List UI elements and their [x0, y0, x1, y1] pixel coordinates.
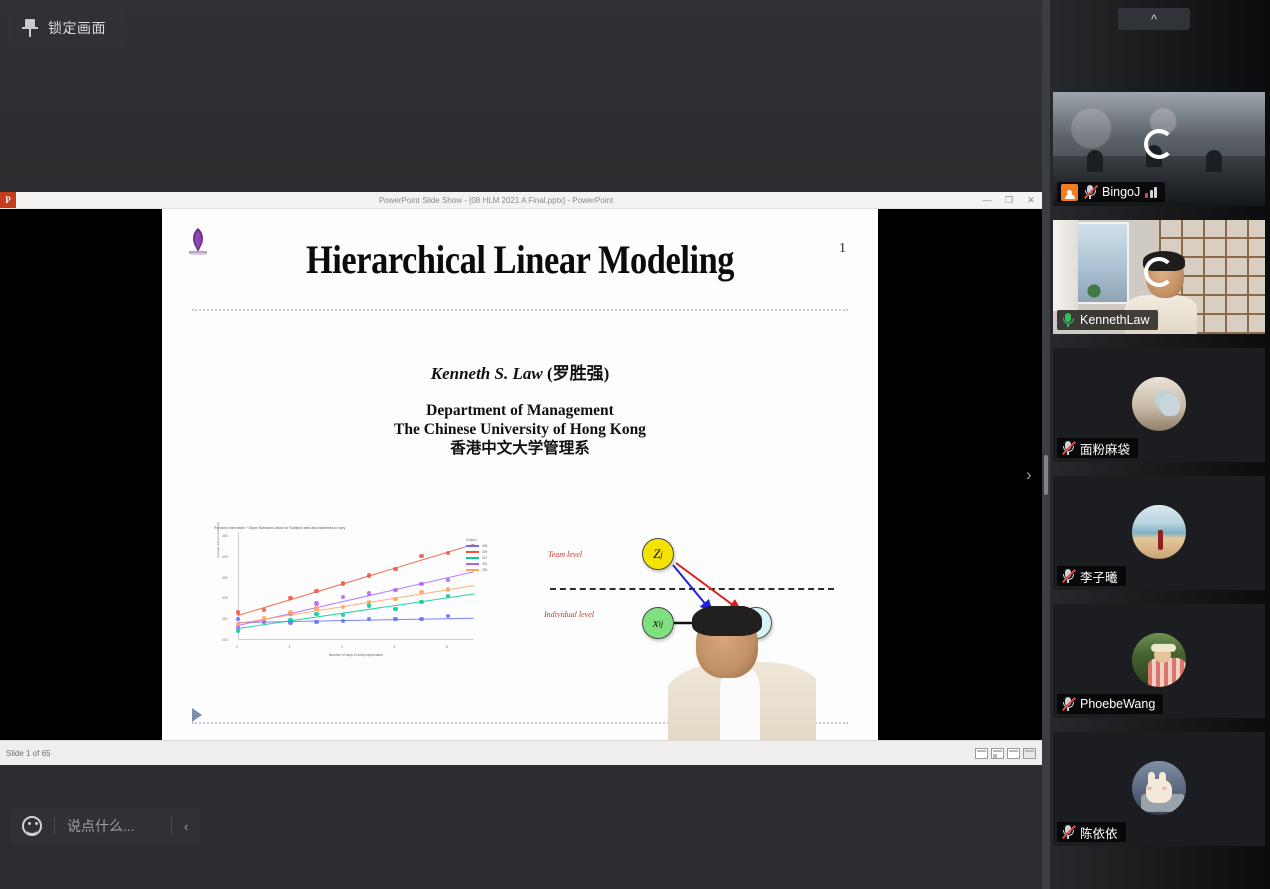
chart-data-point: [288, 618, 292, 622]
maximize-icon[interactable]: ❐: [998, 192, 1020, 208]
participant-tile[interactable]: BingoJ: [1053, 92, 1265, 206]
chart-data-point: [393, 588, 397, 592]
chart-data-point: [446, 551, 450, 555]
chart-data-point: [393, 567, 397, 571]
chart-data-point: [419, 600, 423, 604]
node-z-label: Z: [653, 546, 660, 562]
participant-namebar: PhoebeWang: [1057, 694, 1163, 714]
node-x-sub: ij: [659, 619, 663, 628]
chart-data-point: [236, 610, 240, 614]
participant-name: 李子曦: [1080, 567, 1118, 586]
powerpoint-logo-icon: P: [0, 192, 16, 208]
chart-title: Random Intercepts + Slope Randoms allow …: [214, 526, 509, 530]
chart-y-tick: 400: [222, 555, 228, 559]
shared-screen-stage: 锁定画面 P PowerPoint Slide Show - [08 HLM 2…: [0, 0, 1042, 889]
powerpoint-window: P PowerPoint Slide Show - [08 HLM 2021 A…: [0, 192, 1042, 765]
participant-namebar: BingoJ: [1057, 182, 1165, 202]
slide-counter: Slide 1 of 65: [6, 749, 50, 758]
chart-legend-item: 310: [466, 556, 487, 560]
reading-view-icon[interactable]: [1007, 748, 1020, 759]
slide-author: Kenneth S. Law (罗胜强): [162, 359, 878, 384]
chart-plot-area: Average reaction time (ms) Number of day…: [238, 532, 474, 640]
chart-x-tick: 4: [341, 645, 343, 649]
chat-divider-1: [54, 817, 55, 835]
node-z: Zj: [642, 538, 674, 570]
participant-panel: ^ BingoJKennethLaw面粉麻袋李子曦PhoebeWang陈依依: [1050, 0, 1270, 889]
chart-x-axis-label: Number of days of sleep deprivation: [238, 653, 474, 657]
mic-muted-icon[interactable]: [1061, 696, 1075, 712]
chart-data-point: [446, 587, 450, 591]
play-triangle-icon[interactable]: [192, 708, 202, 722]
slide-sorter-icon[interactable]: [991, 748, 1004, 759]
chart-data-point: [419, 617, 423, 621]
panel-resize-handle[interactable]: [1042, 0, 1050, 889]
avatar: [1132, 633, 1186, 687]
chevron-left-icon[interactable]: ‹: [184, 819, 188, 834]
slide-title: Hierarchical Linear Modeling: [212, 236, 828, 283]
screen-share-meeting-window: 锁定画面 P PowerPoint Slide Show - [08 HLM 2…: [0, 0, 1270, 889]
chart-x-tick: 2: [288, 645, 290, 649]
chart-data-point: [367, 591, 371, 595]
resize-grip[interactable]: [1044, 455, 1048, 495]
loading-spinner-icon: [1144, 129, 1174, 159]
participant-tile-list: BingoJKennethLaw面粉麻袋李子曦PhoebeWang陈依依: [1053, 92, 1267, 860]
view-mode-buttons: [975, 748, 1036, 759]
diagram-arrows: [544, 532, 834, 660]
chart-data-point: [262, 616, 266, 620]
signal-strength-icon: [1145, 186, 1157, 198]
participant-namebar: 李子曦: [1057, 566, 1126, 586]
chart-data-point: [341, 619, 345, 623]
chart-data-point: [446, 594, 450, 598]
chart-data-point: [314, 601, 318, 605]
slide-author-name-cn: (罗胜强): [547, 364, 609, 383]
chart-data-point: [419, 590, 423, 594]
participant-name: 陈依依: [1080, 823, 1118, 842]
mic-muted-icon[interactable]: [1061, 568, 1075, 584]
powerpoint-slide-area[interactable]: 1 Hierarchical Linear Modeling Kenneth S…: [0, 209, 1042, 740]
chart-data-point: [288, 610, 292, 614]
participant-tile[interactable]: 陈依依: [1053, 732, 1265, 846]
affiliation-line-1: Department of Management: [162, 401, 878, 420]
participant-tile[interactable]: PhoebeWang: [1053, 604, 1265, 718]
stage-top-backdrop: [0, 0, 1042, 192]
avatar: [1132, 505, 1186, 559]
slide-divider-top: [192, 309, 848, 311]
minimize-icon[interactable]: —: [976, 192, 998, 208]
chat-input[interactable]: [67, 818, 159, 834]
chart-data-point: [341, 605, 345, 609]
slide-scatter-chart: Random Intercepts + Slope Randoms allow …: [214, 526, 509, 663]
window-controls: — ❐ ✕: [976, 192, 1042, 208]
slide-affiliation: Department of Management The Chinese Uni…: [162, 401, 878, 458]
participant-namebar: 陈依依: [1057, 822, 1126, 842]
chart-legend-title: Subject: [466, 538, 487, 542]
participant-name: PhoebeWang: [1080, 697, 1155, 711]
pin-icon: [22, 19, 38, 37]
slide-path-diagram: Team level Individual level: [544, 532, 834, 660]
participant-tile[interactable]: 面粉麻袋: [1053, 348, 1265, 462]
powerpoint-title: PowerPoint Slide Show - [08 HLM 2021 A F…: [16, 196, 976, 205]
participant-name: KennethLaw: [1080, 313, 1150, 327]
slide-canvas[interactable]: 1 Hierarchical Linear Modeling Kenneth S…: [162, 209, 878, 740]
chart-data-point: [393, 607, 397, 611]
chart-data-point: [314, 589, 318, 593]
loading-spinner-icon: [1144, 257, 1174, 287]
chart-legend-item: 332: [466, 562, 487, 566]
chart-data-point: [419, 554, 423, 558]
participant-name: 面粉麻袋: [1080, 439, 1130, 458]
mic-muted-icon[interactable]: [1061, 440, 1075, 456]
chart-legend: Subject 308309310332333: [466, 538, 487, 574]
avatar: [1132, 761, 1186, 815]
chart-y-tick: 300: [222, 596, 228, 600]
slide-divider-bottom: [192, 722, 848, 724]
powerpoint-statusbar: Slide 1 of 65: [0, 740, 1042, 765]
chart-legend-item: 308: [466, 544, 487, 548]
node-x: xij: [642, 607, 674, 639]
chevron-right-icon[interactable]: ›: [1026, 466, 1042, 484]
chat-input-bar[interactable]: ‹: [10, 808, 200, 844]
mic-muted-icon[interactable]: [1061, 824, 1075, 840]
chart-x-tick: 8: [446, 645, 448, 649]
chart-data-point: [341, 581, 345, 585]
chart-data-point: [314, 606, 318, 610]
chart-data-point: [393, 617, 397, 621]
cuhk-crest-icon: [184, 226, 212, 256]
slide-show-icon[interactable]: [1023, 748, 1036, 759]
lock-screen-label: 锁定画面: [48, 18, 106, 38]
chart-data-point: [236, 628, 240, 632]
host-icon: [1061, 184, 1078, 201]
normal-view-icon[interactable]: [975, 748, 988, 759]
participant-namebar: 面粉麻袋: [1057, 438, 1138, 458]
chart-data-point: [367, 573, 371, 577]
chart-data-point: [393, 597, 397, 601]
smiley-icon[interactable]: [22, 816, 42, 836]
participant-name: BingoJ: [1102, 185, 1140, 199]
chart-legend-item: 309: [466, 550, 487, 554]
node-z-sub: j: [661, 550, 663, 559]
chart-x-tick: 6: [393, 645, 395, 649]
chart-y-tick: 350: [222, 576, 228, 580]
mic-on-icon[interactable]: [1061, 312, 1075, 328]
chart-data-point: [446, 614, 450, 618]
avatar: [1132, 377, 1186, 431]
affiliation-line-3: 香港中文大学管理系: [162, 439, 878, 458]
chart-x-tick: 0: [236, 645, 238, 649]
close-icon[interactable]: ✕: [1020, 192, 1042, 208]
scroll-up-button[interactable]: ^: [1118, 8, 1190, 30]
chart-y-tick: 200: [222, 638, 228, 642]
chart-y-tick: 450: [222, 534, 228, 538]
chart-data-point: [419, 582, 423, 586]
participant-namebar: KennethLaw: [1057, 310, 1158, 330]
affiliation-line-2: The Chinese University of Hong Kong: [162, 420, 878, 439]
chart-data-point: [367, 603, 371, 607]
node-y-sub: ij: [757, 619, 761, 628]
node-y: yij: [740, 607, 772, 639]
chat-divider-2: [171, 817, 172, 835]
chart-y-tick: 250: [222, 617, 228, 621]
mic-muted-icon[interactable]: [1083, 184, 1097, 200]
chart-data-point: [288, 596, 292, 600]
chart-y-axis-label: Average reaction time (ms): [216, 522, 220, 558]
slide-number: 1: [839, 241, 846, 257]
participant-tile[interactable]: 李子曦: [1053, 476, 1265, 590]
chart-legend-item: 333: [466, 568, 487, 572]
powerpoint-titlebar: P PowerPoint Slide Show - [08 HLM 2021 A…: [0, 192, 1042, 209]
slide-author-name: Kenneth S. Law: [431, 364, 543, 383]
participant-tile[interactable]: KennethLaw: [1053, 220, 1265, 334]
slide-footer: Kenneth S. La: [730, 711, 786, 722]
chart-data-point: [341, 595, 345, 599]
lock-screen-button[interactable]: 锁定画面: [10, 10, 122, 46]
